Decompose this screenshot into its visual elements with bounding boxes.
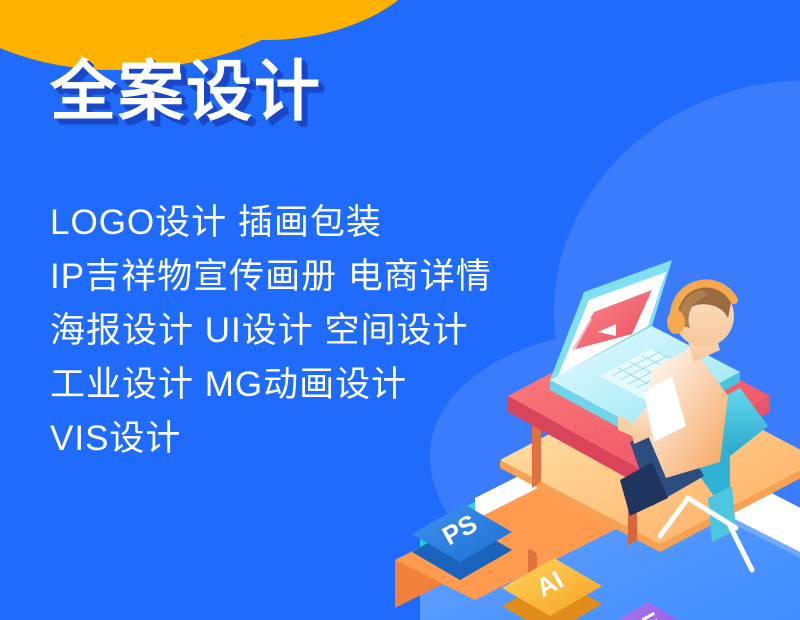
- headline-container: 全案设计: [50, 58, 322, 124]
- isometric-illustration: PS AI AE: [300, 230, 800, 620]
- page-title: 全案设计: [50, 58, 322, 124]
- design-service-banner: 全案设计 LOGO设计 插画包装 IP吉祥物宣传画册 电商详情 海报设计 UI设…: [0, 0, 800, 620]
- headphone-ear-cup: [667, 310, 685, 334]
